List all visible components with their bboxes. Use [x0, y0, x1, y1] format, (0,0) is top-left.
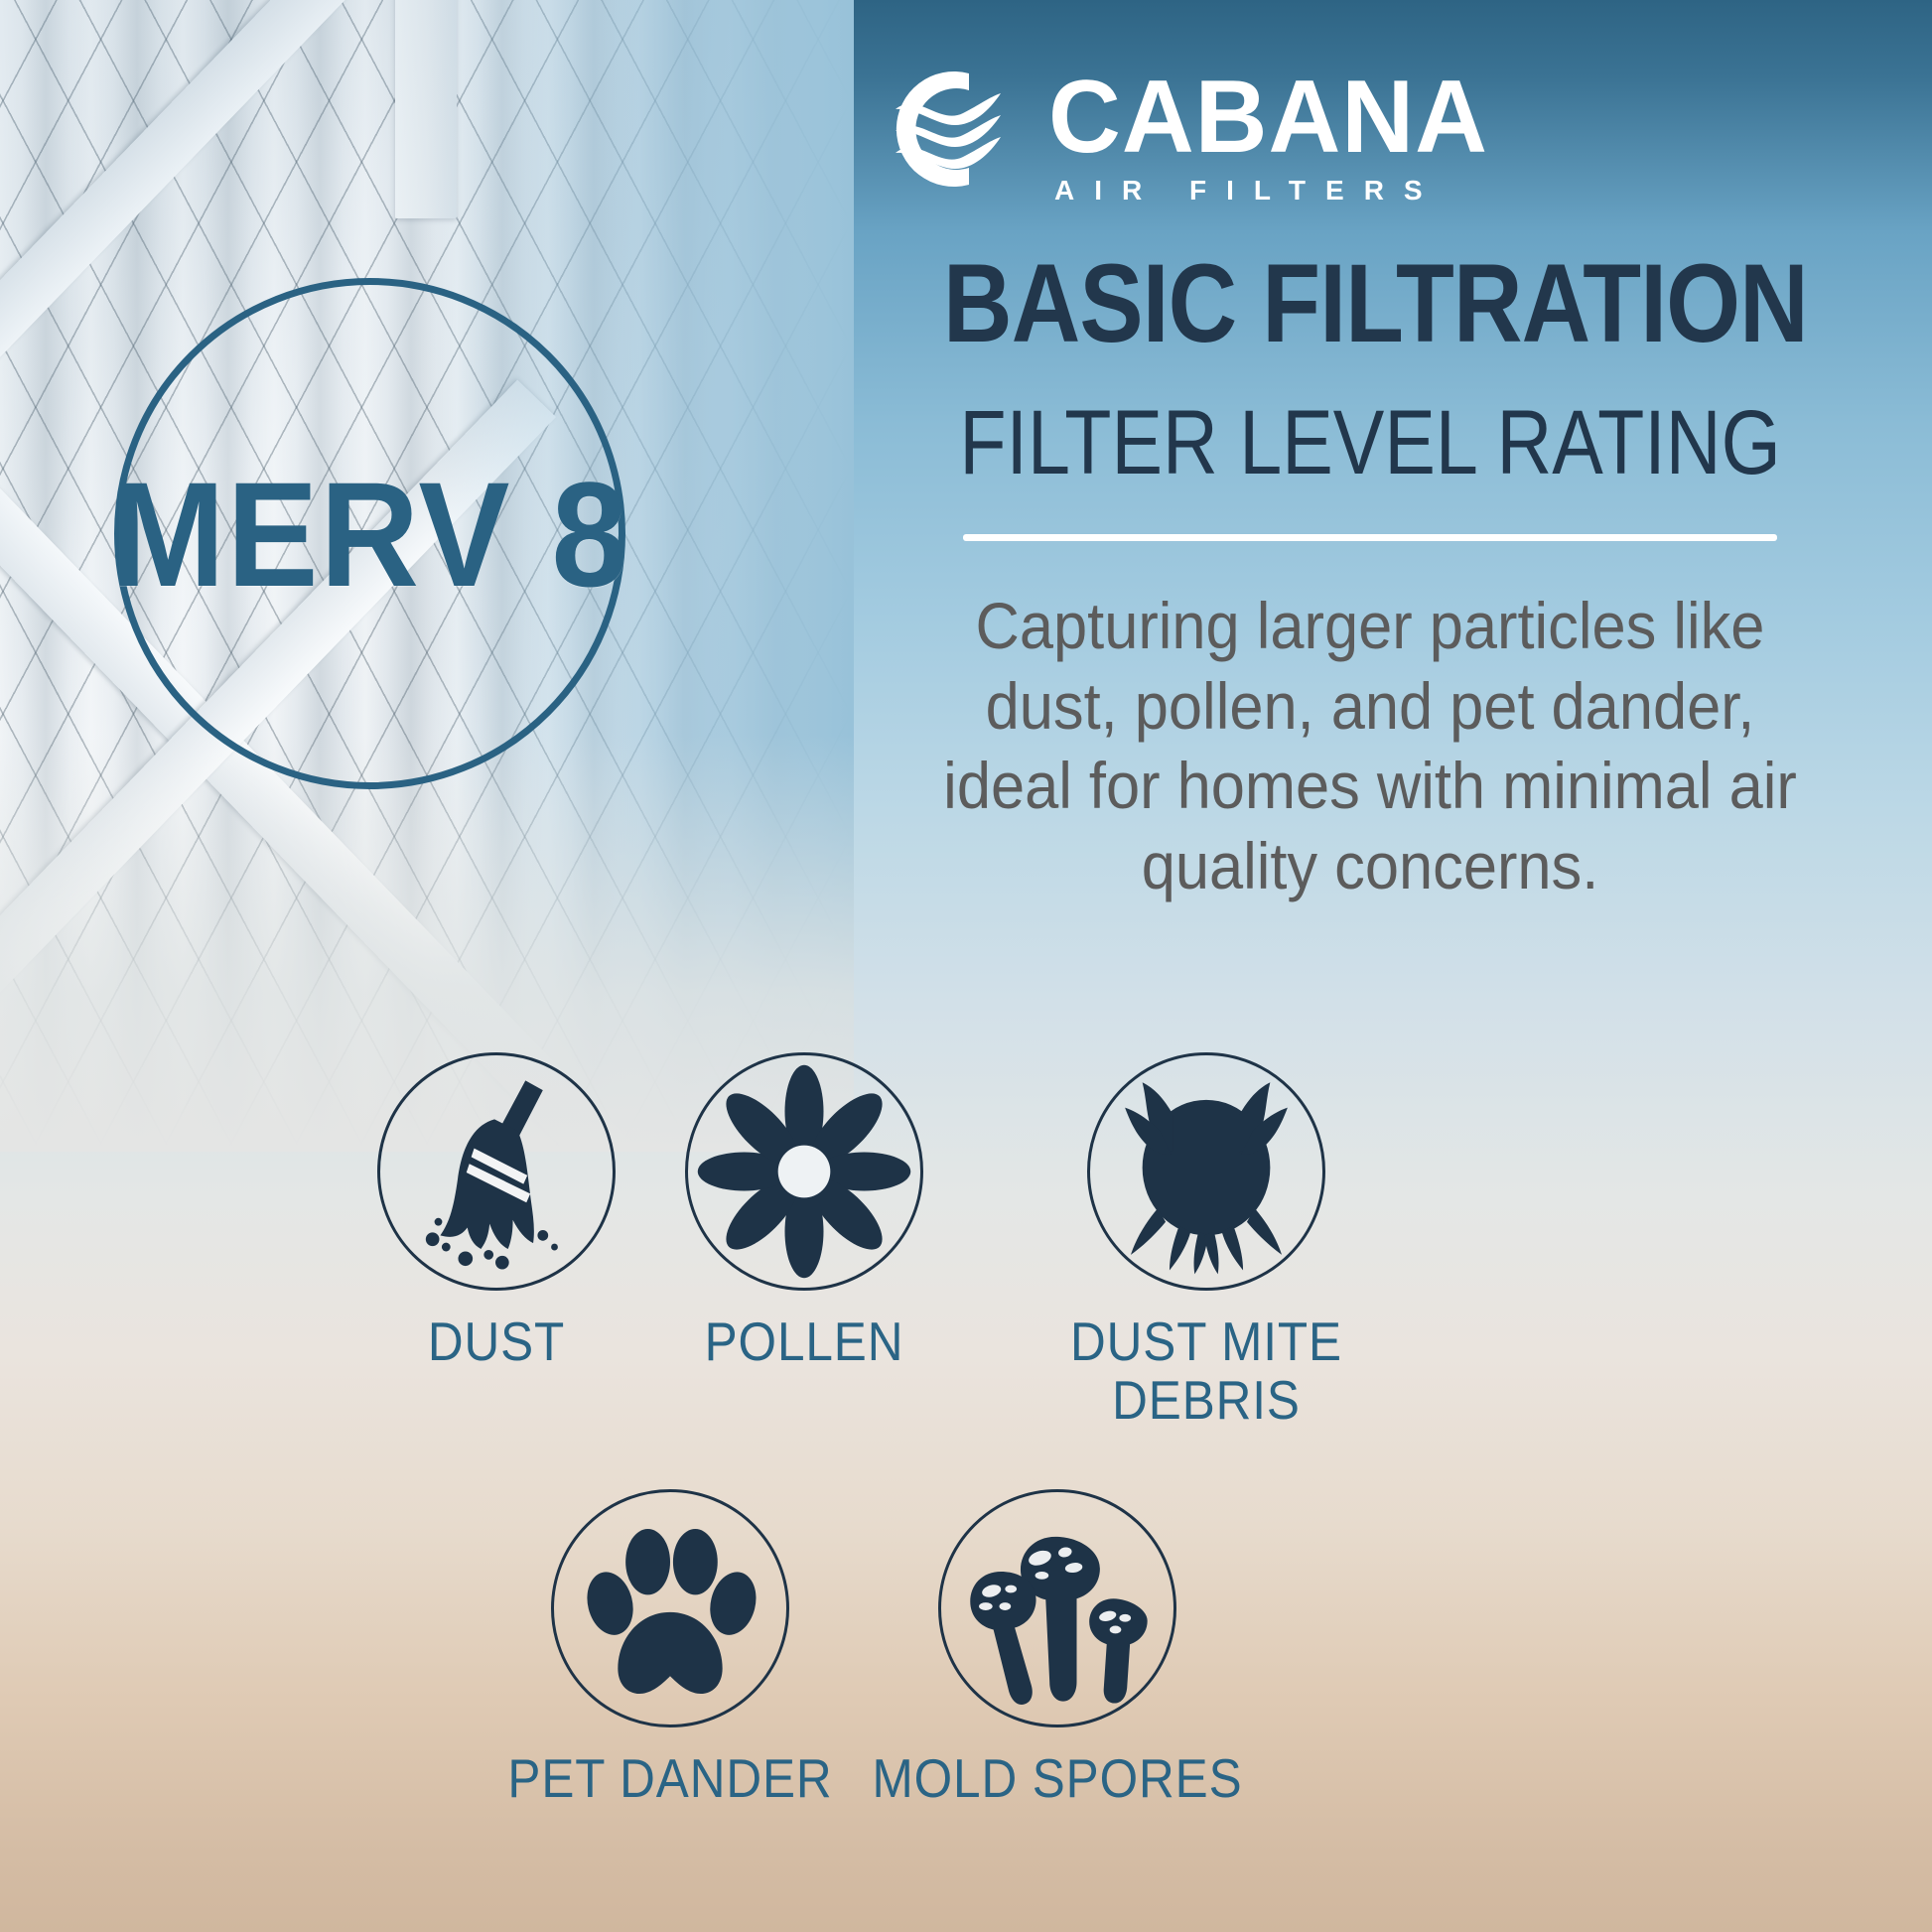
brand-logo: CABANA AIR FILTERS	[874, 62, 1866, 201]
flower-pollen-icon	[685, 1052, 923, 1291]
mold-spores-icon	[938, 1489, 1176, 1727]
description-text: Capturing larger particles like dust, po…	[936, 586, 1804, 905]
infographic-canvas: MERV 8 CABANA AIR FILTERS BASIC FILTRATI…	[0, 0, 1932, 1932]
cabana-wave-c-icon	[874, 62, 1044, 197]
particle-item-pollen: POLLEN	[660, 1052, 948, 1371]
particle-item-pet-dander: PET DANDER	[472, 1489, 869, 1808]
broom-dust-icon	[377, 1052, 616, 1291]
header-column: CABANA AIR FILTERS BASIC FILTRATION FILT…	[874, 0, 1932, 943]
particle-label-pollen: POLLEN	[675, 1312, 934, 1371]
particle-item-dust: DUST	[352, 1052, 640, 1371]
merv-rating-label: MERV 8	[110, 460, 628, 609]
particle-label-dust-mite-debris: DUST MITE DEBRIS	[1015, 1312, 1399, 1431]
brand-tagline: AIR FILTERS	[1048, 175, 1443, 207]
particle-item-dust-mite-debris: DUST MITE DEBRIS	[993, 1052, 1420, 1431]
paw-print-icon	[551, 1489, 789, 1727]
particle-label-dust: DUST	[367, 1312, 626, 1371]
title-divider	[963, 534, 1777, 541]
brand-wordmark: CABANA AIR FILTERS	[1048, 62, 1502, 207]
dust-mite-icon	[1087, 1052, 1325, 1291]
merv-rating-badge: MERV 8	[114, 278, 625, 789]
particle-item-mold-spores: MOLD SPORES	[849, 1489, 1266, 1808]
particle-label-pet-dander: PET DANDER	[491, 1749, 849, 1808]
page-title: BASIC FILTRATION	[943, 248, 1797, 359]
brand-name: CABANA	[1048, 68, 1488, 169]
particle-label-mold-spores: MOLD SPORES	[870, 1749, 1245, 1808]
page-subtitle: FILTER LEVEL RATING	[953, 397, 1787, 488]
